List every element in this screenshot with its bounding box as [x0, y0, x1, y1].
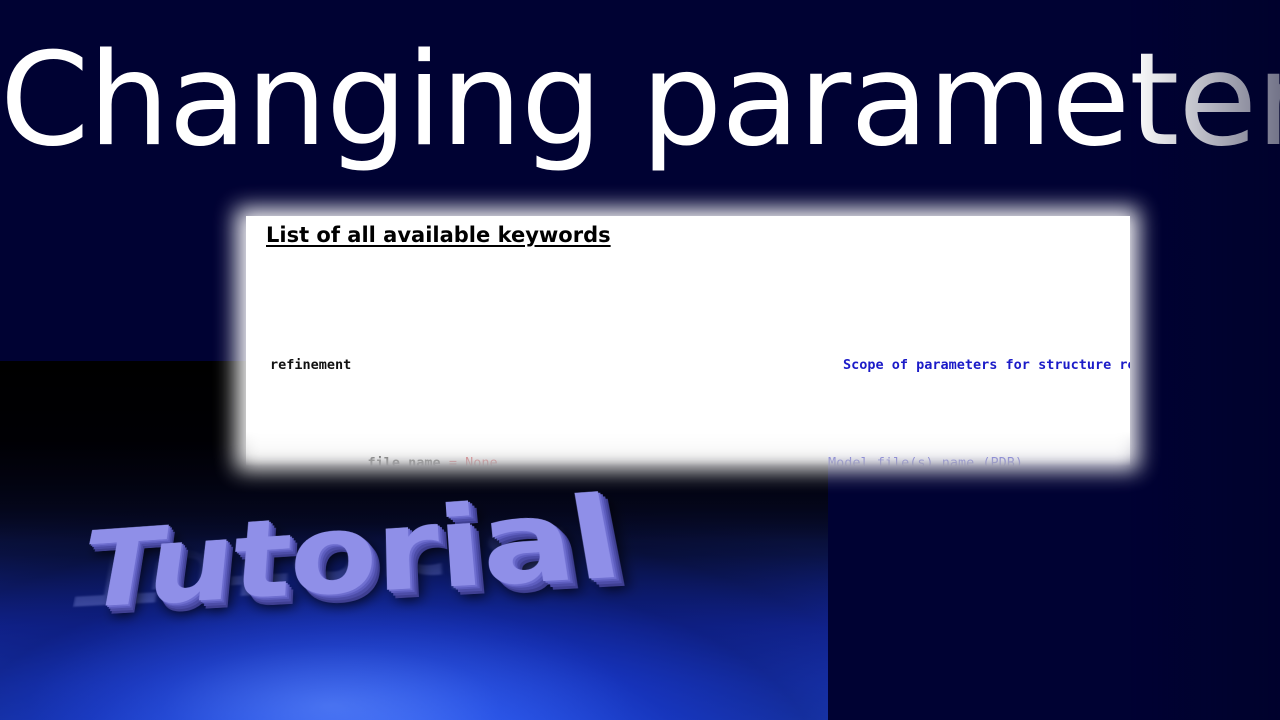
keyword-row-cutoff: file_name = None Model file(s) name (PDB…: [246, 452, 1130, 466]
panel-heading: List of all available keywords: [266, 223, 611, 247]
keyword-listing: refinement Scope of parameters for struc…: [246, 266, 1130, 466]
keyword-assignment: file_name = None: [270, 452, 498, 466]
keyword-description: Model file(s) name (PDB): [828, 452, 1023, 466]
keyword-description: Scope of parameters for structure refine…: [843, 354, 1130, 376]
keyword-row: refinement Scope of parameters for struc…: [246, 354, 1130, 376]
slide-root: Tutorial Tutorial Changing parameters Li…: [0, 0, 1280, 720]
keyword-value: None: [457, 455, 498, 466]
equals-sign: =: [449, 455, 457, 466]
page-title: Changing parameters: [0, 26, 1280, 176]
keyword-name: refinement: [270, 354, 351, 376]
keyword-panel: List of all available keywords refinemen…: [246, 216, 1130, 466]
keyword-name: file_name: [270, 455, 449, 466]
